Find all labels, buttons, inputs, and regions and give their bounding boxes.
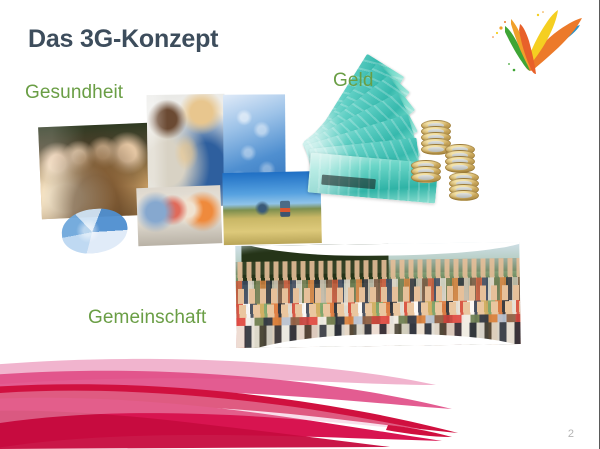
money-photo [307, 98, 499, 208]
health-collage [34, 91, 300, 248]
pink-brush-stroke [0, 341, 460, 449]
community-photo [235, 242, 520, 348]
presentation-slide: Das 3G-Konzept [0, 0, 600, 449]
page-title: Das 3G-Konzept [28, 25, 218, 54]
photo-outdoor-dinner [38, 123, 152, 220]
pillar-label-gesundheit: Gesundheit [25, 82, 123, 104]
photo-family-on-steps [136, 185, 222, 246]
pillar-label-geld: Geld [333, 70, 374, 92]
paint-splash-check-logo [481, 4, 585, 78]
page-number: 2 [568, 428, 574, 440]
pillar-label-gemeinschaft: Gemeinschaft [88, 307, 206, 329]
